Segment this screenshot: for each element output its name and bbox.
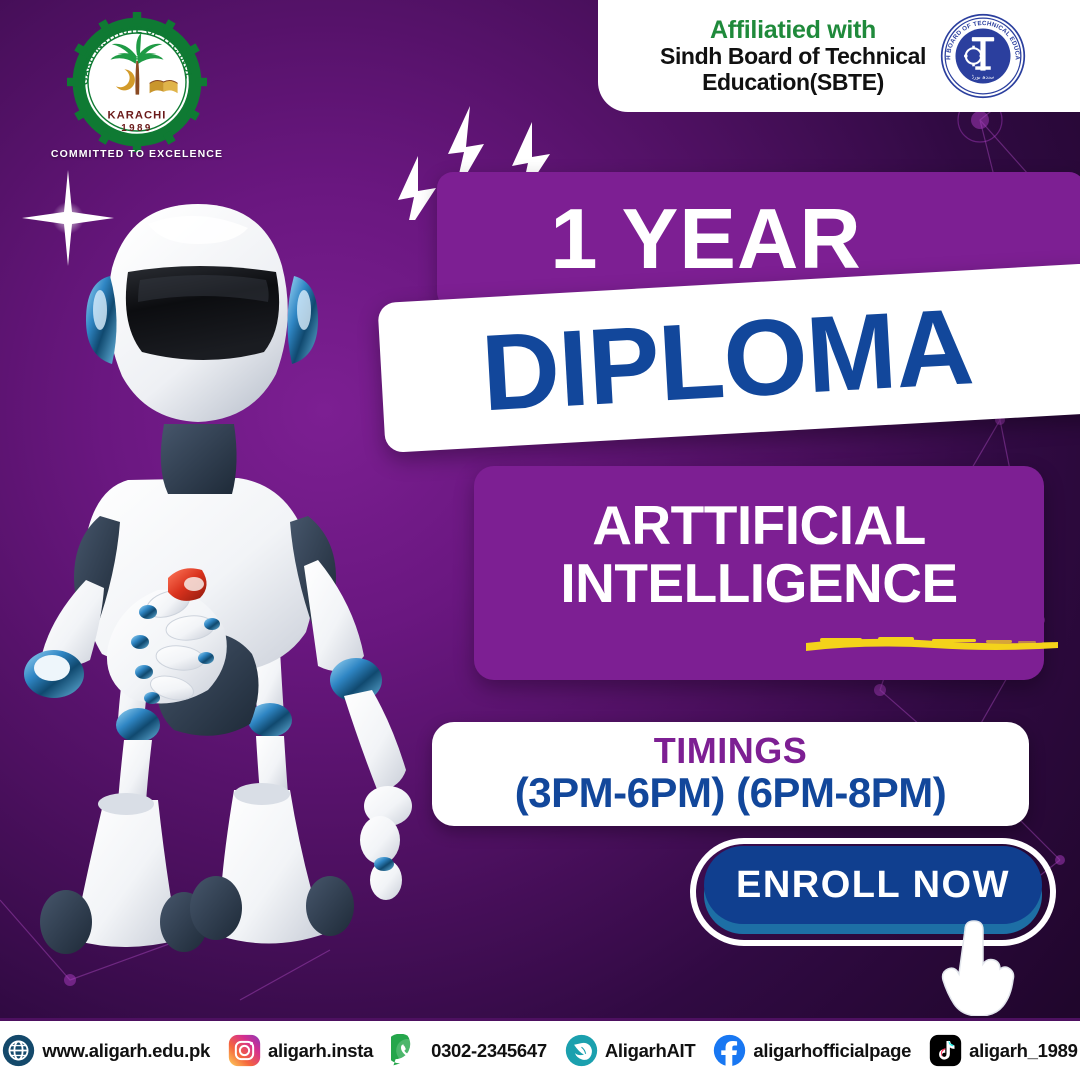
- affiliation-card: Affiliatied with Sindh Board of Technica…: [598, 0, 1080, 112]
- subject-text: ARTTIFICIAL INTELLIGENCE: [474, 496, 1044, 613]
- footer-item-instagram[interactable]: aligarh.insta: [219, 1034, 382, 1067]
- affiliation-line-1: Affiliatied with: [660, 16, 926, 44]
- sbte-seal-icon: SINDH BOARD OF TECHNICAL EDUCATION سندھ …: [940, 13, 1026, 99]
- bird-icon: [565, 1034, 598, 1067]
- pointer-hand-cursor-icon: [935, 916, 1015, 1016]
- timings-card: TIMINGS (3PM-6PM) (6PM-8PM): [432, 722, 1029, 826]
- globe-icon: [2, 1034, 35, 1067]
- footer-label-facebook: aligarhofficialpage: [753, 1040, 911, 1062]
- footer-item-whatsapp[interactable]: 0302-2345647: [382, 1034, 556, 1067]
- footer-label-whatsapp: 0302-2345647: [431, 1040, 547, 1062]
- instagram-icon: [228, 1034, 261, 1067]
- footer-label-website: www.aligarh.edu.pk: [42, 1040, 210, 1062]
- affiliation-line-3: Education(SBTE): [660, 70, 926, 96]
- enroll-cta[interactable]: ENROLL NOW: [690, 838, 1056, 946]
- affiliation-text: Affiliatied with Sindh Board of Technica…: [660, 16, 926, 96]
- footer-item-tiktok[interactable]: aligarh_1989: [920, 1034, 1080, 1067]
- institute-logo: ALIGARH INSTITUTE OF TECHNOLOGY: [42, 12, 232, 160]
- aligarh-logo-seal: ALIGARH INSTITUTE OF TECHNOLOGY: [67, 12, 207, 152]
- footer-label-tiktok: aligarh_1989: [969, 1040, 1078, 1062]
- svg-text:KARACHI: KARACHI: [108, 109, 167, 121]
- footer-item-aligarhait[interactable]: AligarhAIT: [556, 1034, 705, 1067]
- tiktok-icon: [929, 1034, 962, 1067]
- contact-footer: www.aligarh.edu.pk aligarh.insta: [0, 1018, 1080, 1080]
- footer-label-instagram: aligarh.insta: [268, 1040, 373, 1062]
- subject-banner: ARTTIFICIAL INTELLIGENCE: [474, 466, 1044, 680]
- footer-label-aligarhait: AligarhAIT: [605, 1040, 696, 1062]
- subject-line-1: ARTTIFICIAL: [474, 496, 1044, 554]
- svg-text:1989: 1989: [121, 123, 153, 134]
- subject-line-2: INTELLIGENCE: [474, 554, 1044, 612]
- affiliation-line-2: Sindh Board of Technical: [660, 44, 926, 70]
- yellow-brush-stroke: [804, 631, 1064, 657]
- timings-slots: (3PM-6PM) (6PM-8PM): [515, 770, 947, 816]
- footer-item-website[interactable]: www.aligarh.edu.pk: [0, 1034, 219, 1067]
- footer-item-facebook[interactable]: aligarhofficialpage: [704, 1034, 920, 1067]
- svg-text:سندھ بورڈ: سندھ بورڈ: [972, 74, 995, 80]
- whatsapp-icon: [391, 1034, 424, 1067]
- robot-mascot: [8, 180, 428, 980]
- institute-tagline: COMMITTED TO EXCELENCE: [42, 148, 232, 160]
- poster-canvas: ALIGARH INSTITUTE OF TECHNOLOGY: [0, 0, 1080, 1080]
- facebook-icon: [713, 1034, 746, 1067]
- timings-title: TIMINGS: [654, 732, 808, 770]
- enroll-now-button[interactable]: ENROLL NOW: [704, 846, 1042, 924]
